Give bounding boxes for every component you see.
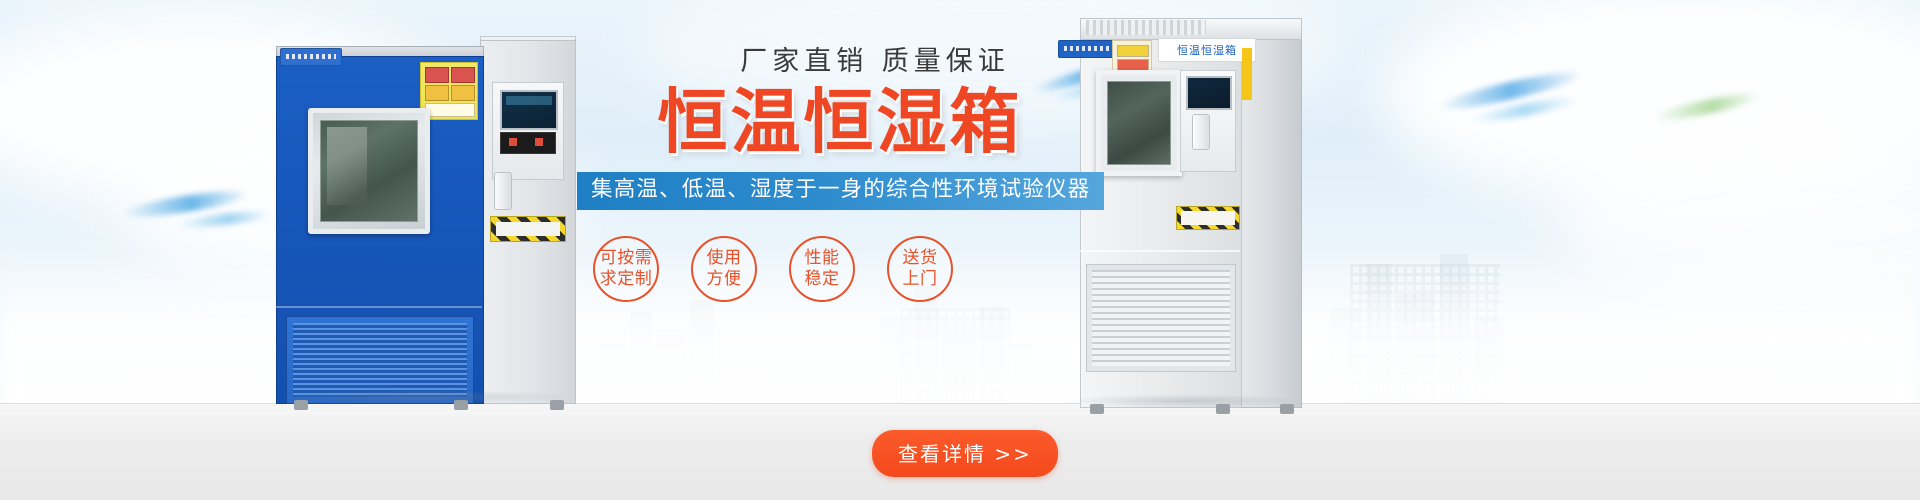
badge-line-1: 性能 <box>805 248 840 269</box>
window-glass <box>320 120 418 222</box>
hazard-stripe-label <box>1176 206 1240 230</box>
product-image-left-chamber <box>268 30 578 402</box>
promo-banner: 恒温恒湿箱 厂家直销 质量保证 恒温恒湿箱 集高温、低温、湿度于一身的综合性环境… <box>0 0 1920 500</box>
chamber-viewing-window <box>1096 70 1182 176</box>
window-glass <box>1107 81 1171 165</box>
door-handle <box>494 172 512 210</box>
panel-seam <box>1080 250 1240 252</box>
glass-glare <box>327 127 367 205</box>
feature-badge-delivery: 送货 上门 <box>887 236 953 302</box>
door-handle <box>1192 114 1210 150</box>
feature-badge-stable: 性能 稳定 <box>789 236 855 302</box>
floor-reflection <box>1060 394 1310 408</box>
feature-badge-custom: 可按需 求定制 <box>593 236 659 302</box>
ventilation-grille <box>1086 264 1236 372</box>
panel-seam <box>276 306 482 308</box>
view-details-button[interactable]: 查看详情 >> <box>872 430 1058 477</box>
badge-line-1: 送货 <box>903 248 938 269</box>
yellow-accent-stripe <box>1242 48 1252 100</box>
badge-line-2: 方便 <box>707 269 742 290</box>
controller-buttons <box>500 132 556 154</box>
feature-badge-list: 可按需 求定制 使用 方便 性能 稳定 送货 上门 <box>575 236 1095 302</box>
top-vent-grille <box>1086 20 1206 35</box>
badge-line-1: 可按需 <box>600 248 653 269</box>
badge-line-2: 求定制 <box>600 269 653 290</box>
controller-screen <box>1186 76 1232 110</box>
floor-reflection <box>268 390 578 404</box>
subtitle-bar: 集高温、低温、湿度于一身的综合性环境试验仪器 <box>577 172 1104 210</box>
feature-badge-easy-use: 使用 方便 <box>691 236 757 302</box>
hazard-stripe-label <box>490 216 566 242</box>
badge-line-2: 上门 <box>903 269 938 290</box>
badge-line-2: 稳定 <box>805 269 840 290</box>
controller-screen <box>500 90 558 130</box>
headline: 恒温恒湿箱 <box>585 87 1095 158</box>
chamber-viewing-window <box>308 108 430 234</box>
badge-line-1: 使用 <box>707 248 742 269</box>
banner-copy-block: 厂家直销 质量保证 恒温恒湿箱 集高温、低温、湿度于一身的综合性环境试验仪器 可… <box>575 48 1095 302</box>
tagline: 厂家直销 质量保证 <box>655 48 1095 75</box>
brand-logo-plate <box>280 48 342 66</box>
